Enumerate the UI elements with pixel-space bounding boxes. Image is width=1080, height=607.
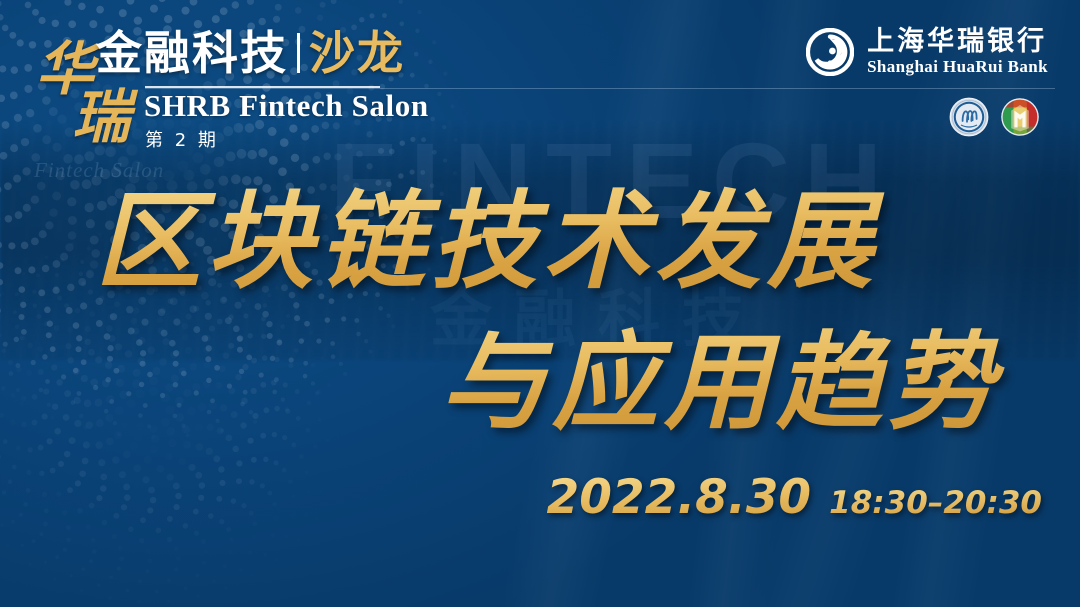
- bank-name-group: 上海华瑞银行 Shanghai HuaRui Bank: [867, 28, 1048, 76]
- silver-wave-seal-icon: [949, 97, 989, 137]
- partner-emblems: [949, 97, 1040, 137]
- huarui-spiral-mark-icon: [806, 28, 854, 76]
- event-datetime: 2022.8.30 18:30–20:30: [547, 470, 1043, 525]
- issue-label: 第 2 期: [145, 126, 219, 152]
- event-date: 2022.8.30: [547, 470, 812, 525]
- bank-name-en: Shanghai HuaRui Bank: [867, 58, 1048, 76]
- series-title-en: SHRB Fintech Salon: [144, 88, 429, 124]
- brand-mark-char-2: 瑞: [72, 88, 130, 146]
- poster-title: 区块链技术发展 与应用趋势: [0, 178, 1080, 444]
- event-time-range: 18:30–20:30: [829, 485, 1042, 521]
- poster-title-line-1: 区块链技术发展: [0, 178, 1080, 303]
- bank-name-cn: 上海华瑞银行: [867, 28, 1048, 56]
- poster-title-line-2: 与应用趋势: [0, 319, 1080, 444]
- vertical-divider-icon: [297, 33, 300, 73]
- event-poster: FINTECH 金融科技 Fintech Salon 华 瑞 金融科技沙龙 SH…: [0, 0, 1080, 607]
- series-title-cn-part1: 金融科技: [96, 26, 288, 80]
- colorful-shield-seal-icon: [1000, 97, 1040, 137]
- bank-logo-lockup: 上海华瑞银行 Shanghai HuaRui Bank: [806, 28, 1048, 76]
- series-title-cn-part2: 沙龙: [309, 26, 405, 80]
- series-title-cn: 金融科技沙龙: [96, 30, 405, 76]
